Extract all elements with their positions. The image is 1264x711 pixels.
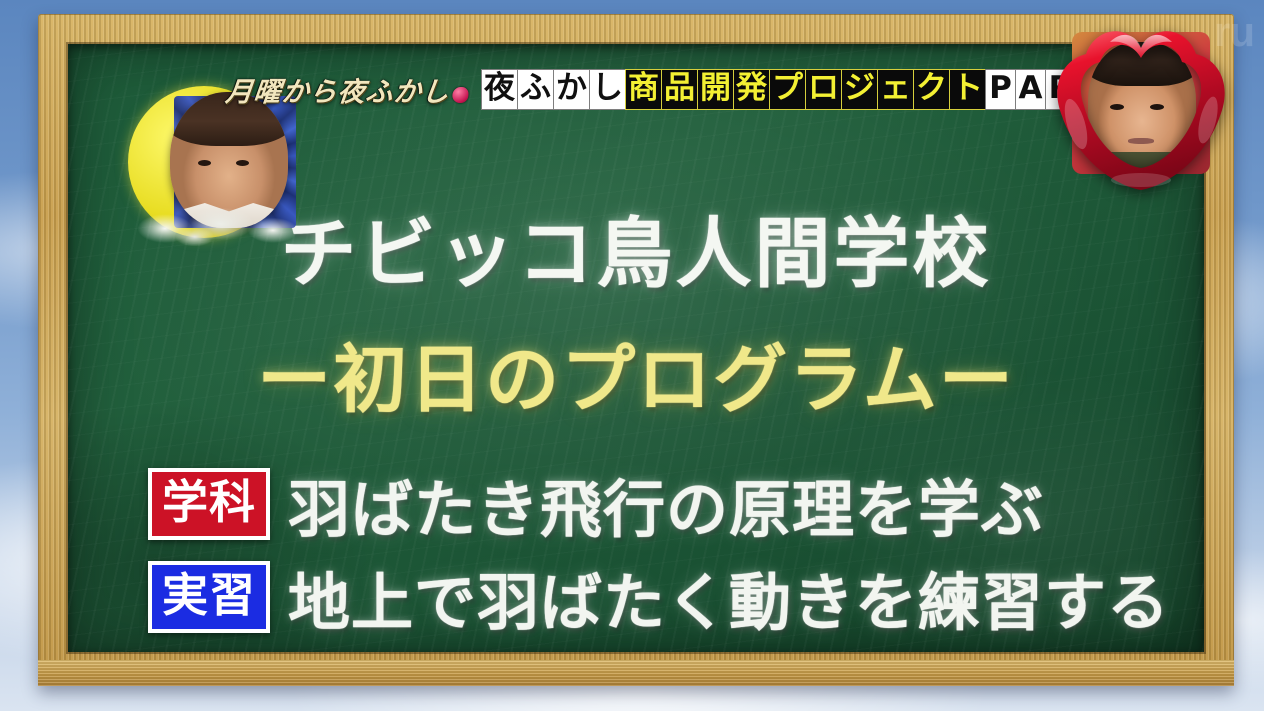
subject-tag-gakka: 学科 [148, 468, 270, 540]
broadcaster-watermark: ru [1214, 8, 1254, 56]
caption-cap: 商 [625, 69, 662, 110]
board-sub-title: ー初日のプログラムー [68, 320, 1204, 427]
cloud-icon [124, 200, 310, 246]
eye-icon [198, 160, 211, 166]
caption-cap: し [589, 69, 626, 110]
program-text-jisshu: 地上で羽ばたく動きを練習する [288, 552, 1170, 642]
program-row-gakka: 学科 羽ばたき飛行の原理を学ぶ [148, 459, 1044, 549]
show-logo-text: 月曜から夜ふかし [224, 77, 451, 107]
caption-cap: 発 [733, 69, 770, 110]
caption-cap: ェ [877, 69, 914, 110]
caption-cap: ジ [841, 69, 878, 110]
caption-cap: 品 [661, 69, 698, 110]
caption-cap: ふ [517, 69, 554, 110]
show-logo: 月曜から夜ふかし [224, 70, 471, 109]
banner-caption-black: 商 品 開 発 プ ロ ジ ェ ク ト [625, 69, 985, 110]
caption-cap: ク [913, 69, 950, 110]
program-text-gakka: 羽ばたき飛行の原理を学ぶ [288, 459, 1044, 549]
caption-cap: A [1015, 69, 1046, 110]
caption-cap: ト [949, 69, 986, 110]
lips-host-inset [1048, 12, 1234, 192]
caption-cap: ロ [805, 69, 842, 110]
banner-caption-white-1: 夜 ふ か し [481, 69, 625, 110]
chalkboard-surface: 月曜から夜ふかし 夜 ふ か し 商 品 開 発 プ ロ ジ ェ ク ト P [68, 44, 1204, 652]
program-title-banner: 月曜から夜ふかし 夜 ふ か し 商 品 開 発 プ ロ ジ ェ ク ト P [68, 66, 1204, 112]
red-lips-frame-icon [1048, 12, 1234, 192]
caption-cap: 夜 [481, 69, 518, 110]
subject-tag-jisshu: 実習 [148, 561, 270, 633]
screen-stage: 月曜から夜ふかし 夜 ふ か し 商 品 開 発 プ ロ ジ ェ ク ト P [0, 0, 1264, 711]
caption-cap: P [985, 69, 1016, 110]
caption-cap: プ [769, 69, 806, 110]
eye-icon [236, 160, 249, 166]
caption-cap: 開 [697, 69, 734, 110]
caption-cap: か [553, 69, 590, 110]
logo-lips-dot-icon [452, 87, 470, 103]
program-row-jisshu: 実習 地上で羽ばたく動きを練習する [148, 552, 1170, 642]
